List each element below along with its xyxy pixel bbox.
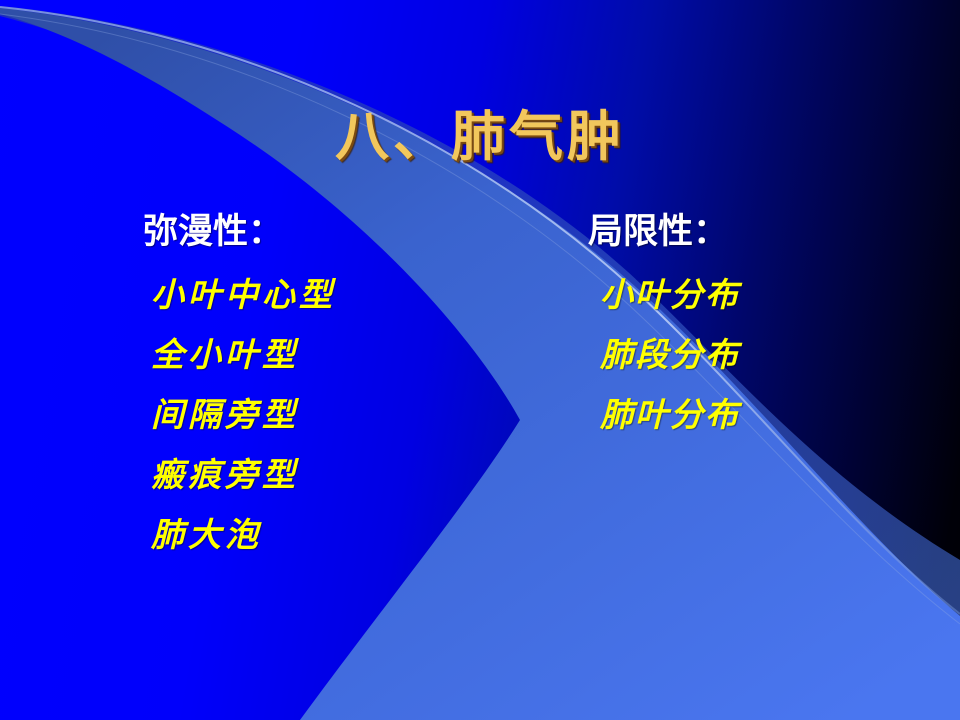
list-item: 肺叶分布 — [588, 385, 740, 445]
list-item: 全小叶型 — [143, 325, 336, 385]
slide-canvas: 八、肺气肿 弥漫性： 小叶中心型 全小叶型 间隔旁型 瘢痕旁型 肺大泡 局限性：… — [0, 0, 960, 720]
column-diffuse: 弥漫性： 小叶中心型 全小叶型 间隔旁型 瘢痕旁型 肺大泡 — [143, 214, 336, 565]
list-item: 间隔旁型 — [143, 385, 336, 445]
column-heading-localized: 局限性： — [588, 214, 740, 249]
column-heading-diffuse: 弥漫性： — [143, 214, 336, 249]
list-item: 肺段分布 — [588, 325, 740, 385]
slide-content: 八、肺气肿 弥漫性： 小叶中心型 全小叶型 间隔旁型 瘢痕旁型 肺大泡 局限性：… — [0, 0, 960, 720]
list-item: 肺大泡 — [143, 505, 336, 565]
column-localized: 局限性： 小叶分布 肺段分布 肺叶分布 — [588, 214, 740, 445]
list-item: 瘢痕旁型 — [143, 445, 336, 505]
list-item: 小叶中心型 — [143, 265, 336, 325]
list-item: 小叶分布 — [588, 265, 740, 325]
page-title: 八、肺气肿 — [0, 92, 960, 171]
